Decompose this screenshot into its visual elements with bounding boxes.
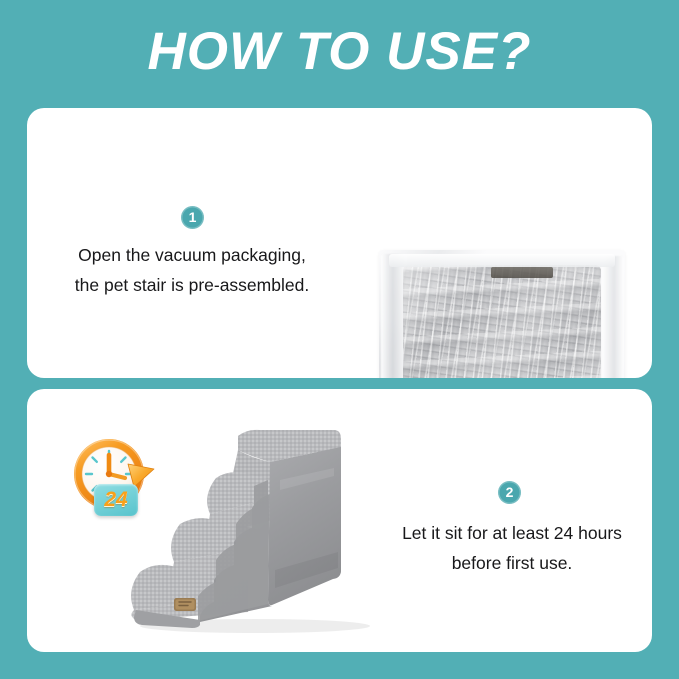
bag-seal-lip	[389, 254, 615, 267]
step-2-line-2: before first use.	[368, 548, 656, 578]
step-number-badge-1: 1	[181, 206, 204, 229]
vacuum-packed-pet-stair-photo	[379, 250, 625, 378]
page-title: HOW TO USE?	[0, 22, 679, 82]
step-1-line-2: the pet stair is pre-assembled.	[28, 270, 356, 300]
step-number-badge-2: 2	[498, 481, 521, 504]
step-1-line-1: Open the vacuum packaging,	[28, 240, 356, 270]
step-2-line-1: Let it sit for at least 24 hours	[368, 518, 656, 548]
compressed-foam-block	[403, 265, 601, 378]
package-handle-strip	[491, 267, 553, 278]
step-1-text: Open the vacuum packaging, the pet stair…	[28, 240, 356, 300]
pet-stair-photo	[120, 420, 385, 635]
brand-leather-tag	[174, 598, 196, 611]
pet-stair-graphic	[120, 420, 385, 635]
step-2-text: Let it sit for at least 24 hours before …	[368, 518, 656, 578]
how-to-use-infographic: HOW TO USE? 1 Open the vacuum packaging,…	[0, 0, 679, 679]
